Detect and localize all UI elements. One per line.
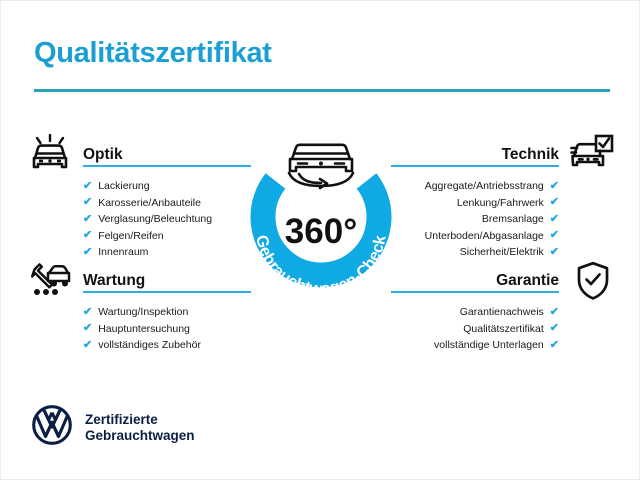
badge-center-label: 360° (285, 212, 357, 251)
check-icon: ✔ (83, 230, 92, 241)
list-item-label: Lenkung/Fahrwerk (457, 195, 544, 212)
list-item: ✔vollständiges Zubehör (83, 337, 251, 354)
section-wartung-list: ✔Wartung/Inspektion ✔Hauptuntersuchung ✔… (83, 304, 251, 354)
car-wash-icon (29, 134, 73, 179)
badge-360-gebrauchtwagen-check: Gebrauchtwagen-Check 360° (233, 129, 409, 305)
car-service-tool-icon (29, 259, 73, 304)
list-item-label: Unterboden/Abgasanlage (425, 228, 544, 245)
check-icon: ✔ (550, 230, 559, 241)
section-technik: Technik Aggregate/Antriebsstrang✔ Lenkun… (391, 143, 559, 261)
check-icon: ✔ (550, 323, 559, 334)
list-item: vollständige Unterlagen✔ (391, 337, 559, 354)
list-item-label: vollständige Unterlagen (434, 337, 544, 354)
section-wartung: Wartung ✔Wartung/Inspektion ✔Hauptunters… (83, 269, 251, 354)
page-title: Qualitätszertifikat (34, 37, 272, 70)
list-item-label: Innenraum (98, 244, 148, 261)
car-checkbox-icon (568, 134, 614, 179)
list-item: Sicherheit/Elektrik✔ (391, 244, 559, 261)
section-garantie-title: Garantie (496, 272, 559, 290)
list-item-label: Hauptuntersuchung (98, 321, 190, 338)
list-item-label: Bremsanlage (482, 211, 544, 228)
section-garantie-underline (391, 291, 559, 293)
list-item: ✔Felgen/Reifen (83, 228, 251, 245)
list-item-label: Wartung/Inspektion (98, 304, 188, 321)
check-icon: ✔ (550, 214, 559, 225)
list-item-label: vollständiges Zubehör (98, 337, 201, 354)
vw-logo-icon (32, 405, 72, 450)
list-item-label: Qualitätszertifikat (463, 321, 544, 338)
list-item: ✔Verglasung/Beleuchtung (83, 211, 251, 228)
section-optik: Optik ✔Lackierung ✔Karosserie/Anbauteile… (83, 143, 251, 261)
section-wartung-title: Wartung (83, 272, 145, 290)
list-item-label: Verglasung/Beleuchtung (98, 211, 212, 228)
list-item: ✔Innenraum (83, 244, 251, 261)
section-optik-list: ✔Lackierung ✔Karosserie/Anbauteile ✔Verg… (83, 178, 251, 261)
section-garantie-header: Garantie (391, 269, 559, 293)
section-wartung-underline (83, 291, 251, 293)
list-item: Bremsanlage✔ (391, 211, 559, 228)
check-icon: ✔ (83, 247, 92, 258)
section-optik-header: Optik (83, 143, 251, 167)
section-wartung-header: Wartung (83, 269, 251, 293)
check-icon: ✔ (550, 197, 559, 208)
check-icon: ✔ (550, 307, 559, 318)
check-icon: ✔ (550, 181, 559, 192)
title-divider (34, 89, 610, 92)
list-item: Unterboden/Abgasanlage✔ (391, 228, 559, 245)
section-garantie-list: Garantienachweis✔ Qualitätszertifikat✔ v… (391, 304, 559, 354)
section-optik-underline (83, 165, 251, 167)
check-icon: ✔ (550, 247, 559, 258)
check-icon: ✔ (83, 214, 92, 225)
footer-brand-text: Zertifizierte Gebrauchtwagen (85, 412, 195, 444)
list-item-label: Karosserie/Anbauteile (98, 195, 201, 212)
section-technik-header: Technik (391, 143, 559, 167)
footer-line-2: Gebrauchtwagen (85, 428, 195, 444)
certificate-page: Qualitätszertifikat (0, 0, 640, 480)
shield-check-icon (576, 261, 610, 306)
footer-line-1: Zertifizierte (85, 412, 195, 428)
check-icon: ✔ (83, 307, 92, 318)
check-icon: ✔ (83, 181, 92, 192)
car-rotate-360-icon (289, 145, 353, 188)
section-technik-title: Technik (502, 146, 559, 164)
list-item-label: Aggregate/Antriebsstrang (425, 178, 544, 195)
list-item-label: Lackierung (98, 178, 149, 195)
list-item: Qualitätszertifikat✔ (391, 321, 559, 338)
list-item-label: Garantienachweis (460, 304, 544, 321)
section-garantie: Garantie Garantienachweis✔ Qualitätszert… (391, 269, 559, 354)
list-item: ✔Wartung/Inspektion (83, 304, 251, 321)
check-icon: ✔ (83, 323, 92, 334)
list-item: ✔Karosserie/Anbauteile (83, 195, 251, 212)
list-item: ✔Lackierung (83, 178, 251, 195)
list-item: ✔Hauptuntersuchung (83, 321, 251, 338)
list-item: Aggregate/Antriebsstrang✔ (391, 178, 559, 195)
section-technik-list: Aggregate/Antriebsstrang✔ Lenkung/Fahrwe… (391, 178, 559, 261)
check-icon: ✔ (83, 197, 92, 208)
section-technik-underline (391, 165, 559, 167)
list-item-label: Felgen/Reifen (98, 228, 163, 245)
check-icon: ✔ (550, 340, 559, 351)
list-item: Garantienachweis✔ (391, 304, 559, 321)
check-icon: ✔ (83, 340, 92, 351)
footer-brand: Zertifizierte Gebrauchtwagen (32, 405, 195, 450)
list-item: Lenkung/Fahrwerk✔ (391, 195, 559, 212)
section-optik-title: Optik (83, 146, 123, 164)
list-item-label: Sicherheit/Elektrik (460, 244, 544, 261)
